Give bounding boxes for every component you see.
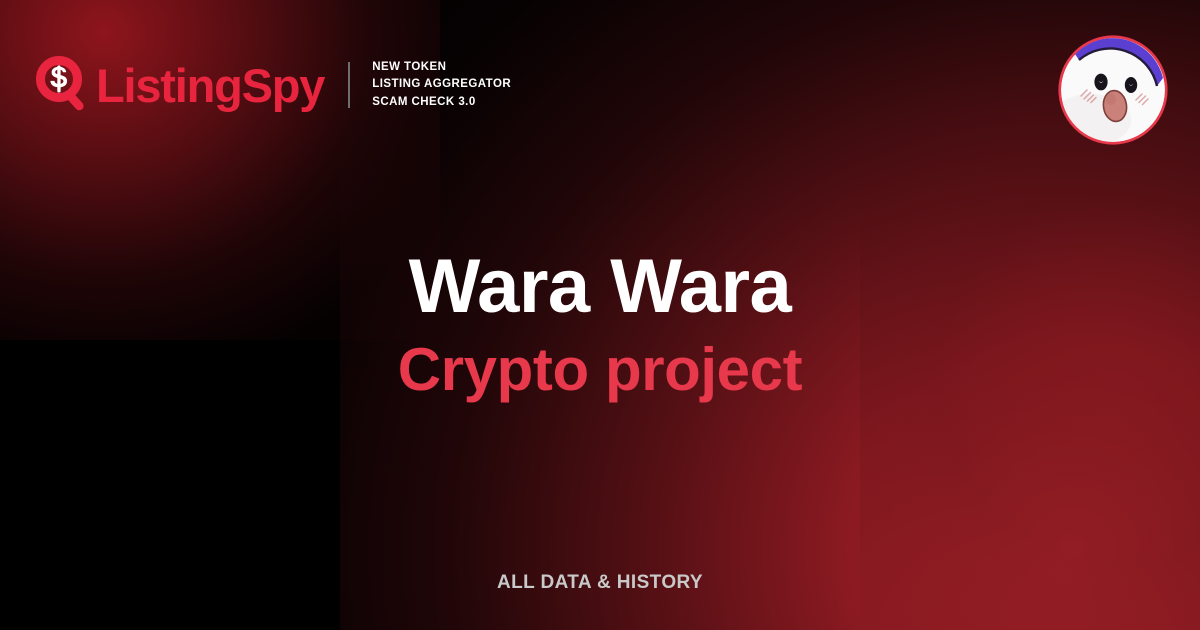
header: ListingSpy NEW TOKEN LISTING AGGREGATOR … [36,56,511,114]
hero-section: Wara Wara Crypto project [0,248,1200,401]
tagline-line-3: SCAM CHECK 3.0 [372,94,511,111]
tagline-line-1: NEW TOKEN [372,59,511,76]
token-mascot-face-icon [1057,34,1169,146]
project-avatar[interactable] [1057,34,1169,146]
og-card: ListingSpy NEW TOKEN LISTING AGGREGATOR … [0,0,1200,630]
brand-wordmark: ListingSpy [96,62,324,109]
magnifier-dollar-icon [36,56,92,114]
brand-logo[interactable]: ListingSpy [36,56,324,114]
page-subtitle: Crypto project [0,338,1200,401]
header-divider [348,62,350,108]
page-title: Wara Wara [0,248,1200,326]
footer-caption: ALL DATA & HISTORY [0,572,1200,594]
tagline-line-2: LISTING AGGREGATOR [372,76,511,93]
brand-tagline: NEW TOKEN LISTING AGGREGATOR SCAM CHECK … [372,59,511,111]
